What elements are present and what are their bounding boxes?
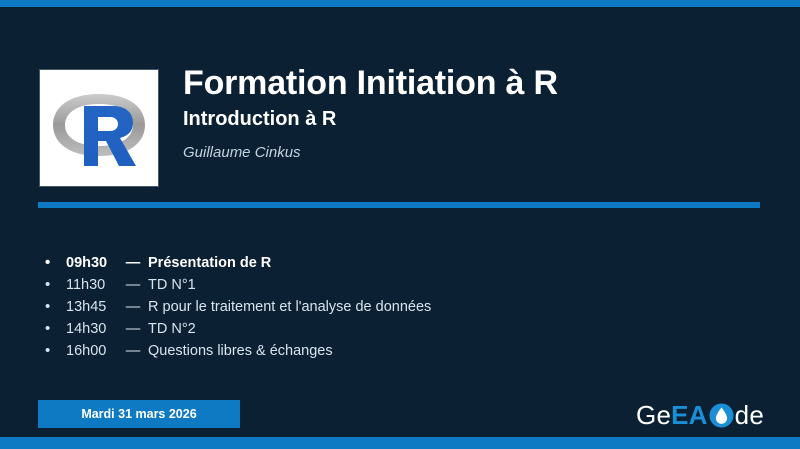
agenda-item-label: R pour le traitement et l'analyse de don… <box>148 296 431 318</box>
r-language-logo <box>40 70 158 186</box>
author-name: Guillaume Cinkus <box>183 143 770 163</box>
top-accent-bar <box>0 0 800 7</box>
agenda-list: •09h30—Présentation de R•11h30—TD N°1•13… <box>38 252 738 362</box>
agenda-item-dash: — <box>118 252 148 274</box>
agenda-item: •14h30—TD N°2 <box>38 318 738 340</box>
bottom-accent-bar <box>0 437 800 449</box>
agenda-item: •16h00—Questions libres & échanges <box>38 340 738 362</box>
agenda-item-label: Questions libres & échanges <box>148 340 333 362</box>
presentation-slide: Formation Initiation à R Introduction à … <box>0 0 800 449</box>
agenda-item: •13h45—R pour le traitement et l'analyse… <box>38 296 738 318</box>
agenda-item-dash: — <box>118 340 148 362</box>
title-block: Formation Initiation à R Introduction à … <box>183 63 770 163</box>
agenda-item-time: 16h00 <box>66 340 118 362</box>
agenda-item-dash: — <box>118 296 148 318</box>
agenda-item-dash: — <box>118 274 148 296</box>
page-title: Formation Initiation à R <box>183 63 770 103</box>
slide-header: Formation Initiation à R Introduction à … <box>0 63 800 193</box>
bullet-icon: • <box>38 318 66 340</box>
bullet-icon: • <box>38 274 66 296</box>
header-divider <box>38 202 760 208</box>
date-badge: Mardi 31 mars 2026 <box>38 400 240 428</box>
agenda-item-label: Présentation de R <box>148 252 271 274</box>
page-subtitle: Introduction à R <box>183 106 770 132</box>
water-droplet-icon <box>709 403 734 428</box>
agenda-item-time: 14h30 <box>66 318 118 340</box>
bullet-icon: • <box>38 252 66 274</box>
bullet-icon: • <box>38 340 66 362</box>
bullet-icon: • <box>38 296 66 318</box>
agenda-item-time: 13h45 <box>66 296 118 318</box>
brand-text-part2: EA <box>671 400 708 430</box>
agenda-item-time: 11h30 <box>66 274 118 296</box>
brand-text-part3: de <box>735 400 764 430</box>
brand-text-part1: Ge <box>636 400 671 430</box>
agenda-item-label: TD N°2 <box>148 318 196 340</box>
agenda-item-dash: — <box>118 318 148 340</box>
agenda-item-label: TD N°1 <box>148 274 196 296</box>
agenda-item-time: 09h30 <box>66 252 118 274</box>
agenda-item: •09h30—Présentation de R <box>38 252 738 274</box>
agenda-item: •11h30—TD N°1 <box>38 274 738 296</box>
geeaude-brand-logo: GeEA de <box>636 400 764 430</box>
